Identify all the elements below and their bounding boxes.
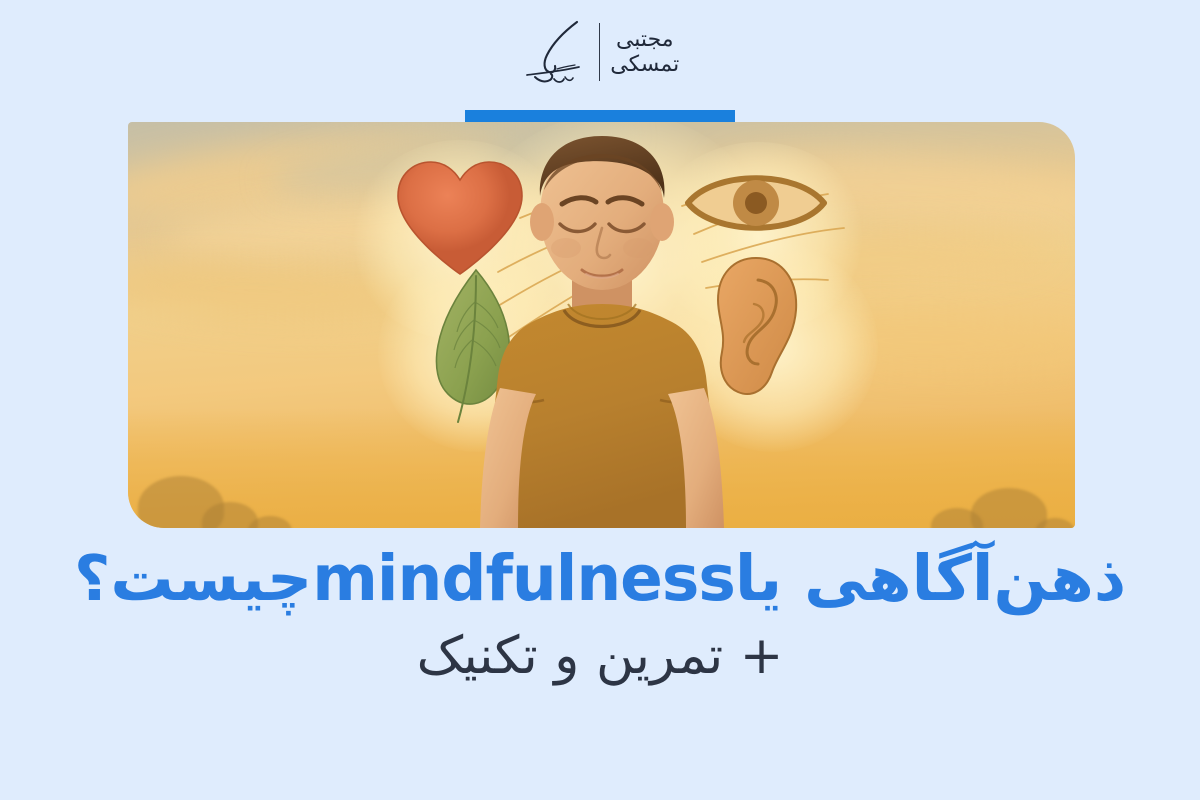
handwritten-signature-icon — [521, 17, 589, 87]
brand-logo[interactable]: مجتبی تمسکی — [521, 16, 679, 88]
logo-line-2: تمسکی — [610, 53, 679, 76]
logo-divider — [599, 23, 601, 81]
title-latin-part: mindfulness — [312, 545, 735, 613]
hero-illustration — [128, 122, 1075, 528]
title-rtl-part-1: ذهن‌آگاهی یا — [735, 542, 1126, 615]
page-title: ذهن‌آگاهی یاmindfulnessچیست؟ — [0, 545, 1200, 613]
meditating-person — [452, 122, 752, 528]
page-subtitle: + تمرین و تکنیک — [0, 627, 1200, 687]
page-header: مجتبی تمسکی — [0, 0, 1200, 122]
title-block: ذهن‌آگاهی یاmindfulnessچیست؟ + تمرین و ت… — [0, 545, 1200, 687]
title-rtl-part-2: چیست؟ — [74, 542, 312, 615]
logo-wordmark: مجتبی تمسکی — [610, 28, 679, 76]
logo-line-1: مجتبی — [616, 28, 674, 51]
